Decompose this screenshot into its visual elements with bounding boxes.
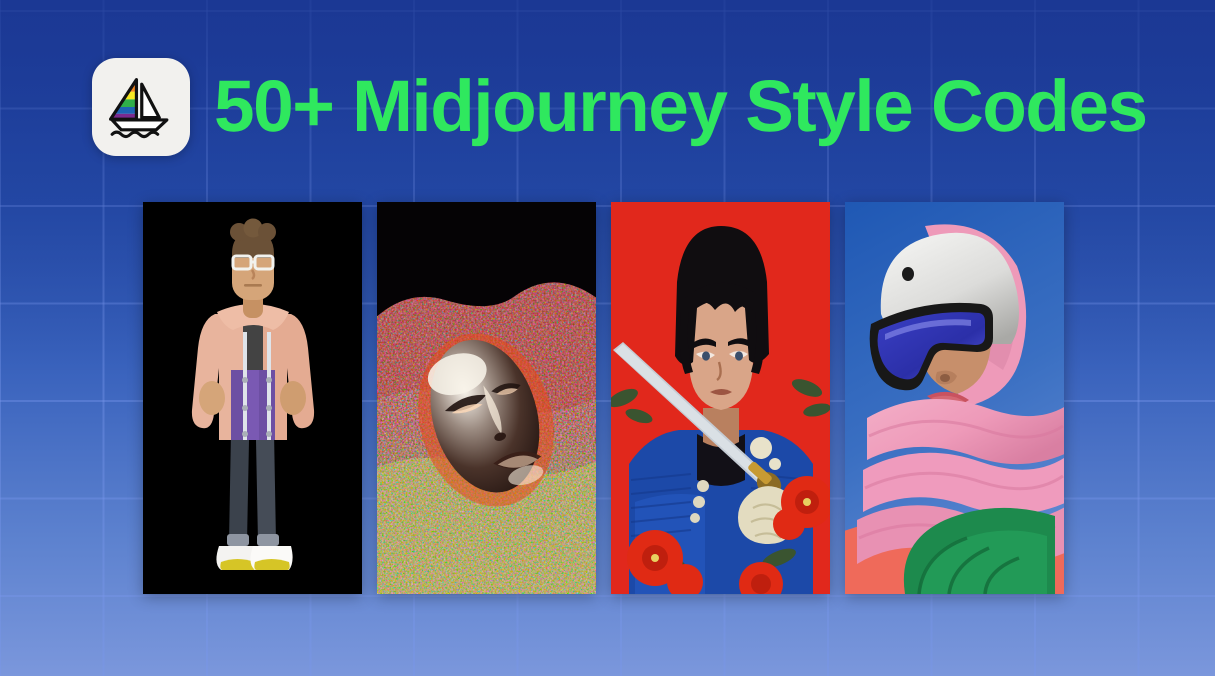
header: 50+ Midjourney Style Codes — [92, 58, 1147, 156]
gallery-image-anime-samurai-with-katana[interactable] — [611, 202, 830, 594]
midjourney-sailboat-logo-tile — [92, 58, 190, 156]
page-title: 50+ Midjourney Style Codes — [214, 72, 1147, 141]
poster-canvas: 50+ Midjourney Style Codes — [0, 0, 1215, 676]
gallery-image-chrome-face-in-flowers[interactable] — [377, 202, 596, 594]
style-code-gallery — [143, 202, 1064, 594]
gallery-image-skier-pink-scarf-goggles[interactable] — [845, 202, 1064, 594]
midjourney-sailboat-logo-icon — [103, 69, 179, 145]
gallery-image-3d-character-puffer-jacket[interactable] — [143, 202, 362, 594]
